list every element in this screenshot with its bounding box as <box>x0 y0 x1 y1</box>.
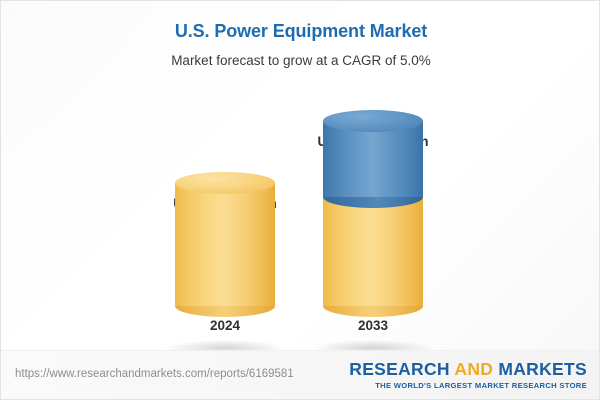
cylinder-body-2024 <box>175 183 275 306</box>
footer: https://www.researchandmarkets.com/repor… <box>1 350 600 399</box>
cylinder-gold-2024[interactable] <box>175 183 275 306</box>
chart-card: U.S. Power Equipment Market Market forec… <box>0 0 600 400</box>
logo-word-research: RESEARCH <box>349 359 454 379</box>
research-and-markets-logo[interactable]: RESEARCH AND MARKETS THE WORLD'S LARGEST… <box>349 359 587 390</box>
cylinder-blue-2033[interactable] <box>323 121 423 197</box>
cylinder-body-gold-2033 <box>323 197 423 306</box>
x-axis-label-2033: 2033 <box>283 318 463 333</box>
cylinder-blue-top-ellipse-2033 <box>323 110 423 132</box>
source-url[interactable]: https://www.researchandmarkets.com/repor… <box>15 368 294 380</box>
logo-tagline: THE WORLD'S LARGEST MARKET RESEARCH STOR… <box>349 381 587 390</box>
cylinder-gold-2033[interactable] <box>323 197 423 306</box>
logo-wordmark: RESEARCH AND MARKETS <box>349 359 587 380</box>
plot-area: USD 8.96 Billion USD 13.85 Billion <box>1 1 600 351</box>
bar-group-2033[interactable]: USD 13.85 Billion <box>323 121 423 351</box>
cylinder-body-blue-2033 <box>323 121 423 197</box>
cylinder-top-ellipse-2024 <box>175 172 275 194</box>
logo-word-and: AND <box>454 359 493 379</box>
logo-word-markets: MARKETS <box>493 359 587 379</box>
